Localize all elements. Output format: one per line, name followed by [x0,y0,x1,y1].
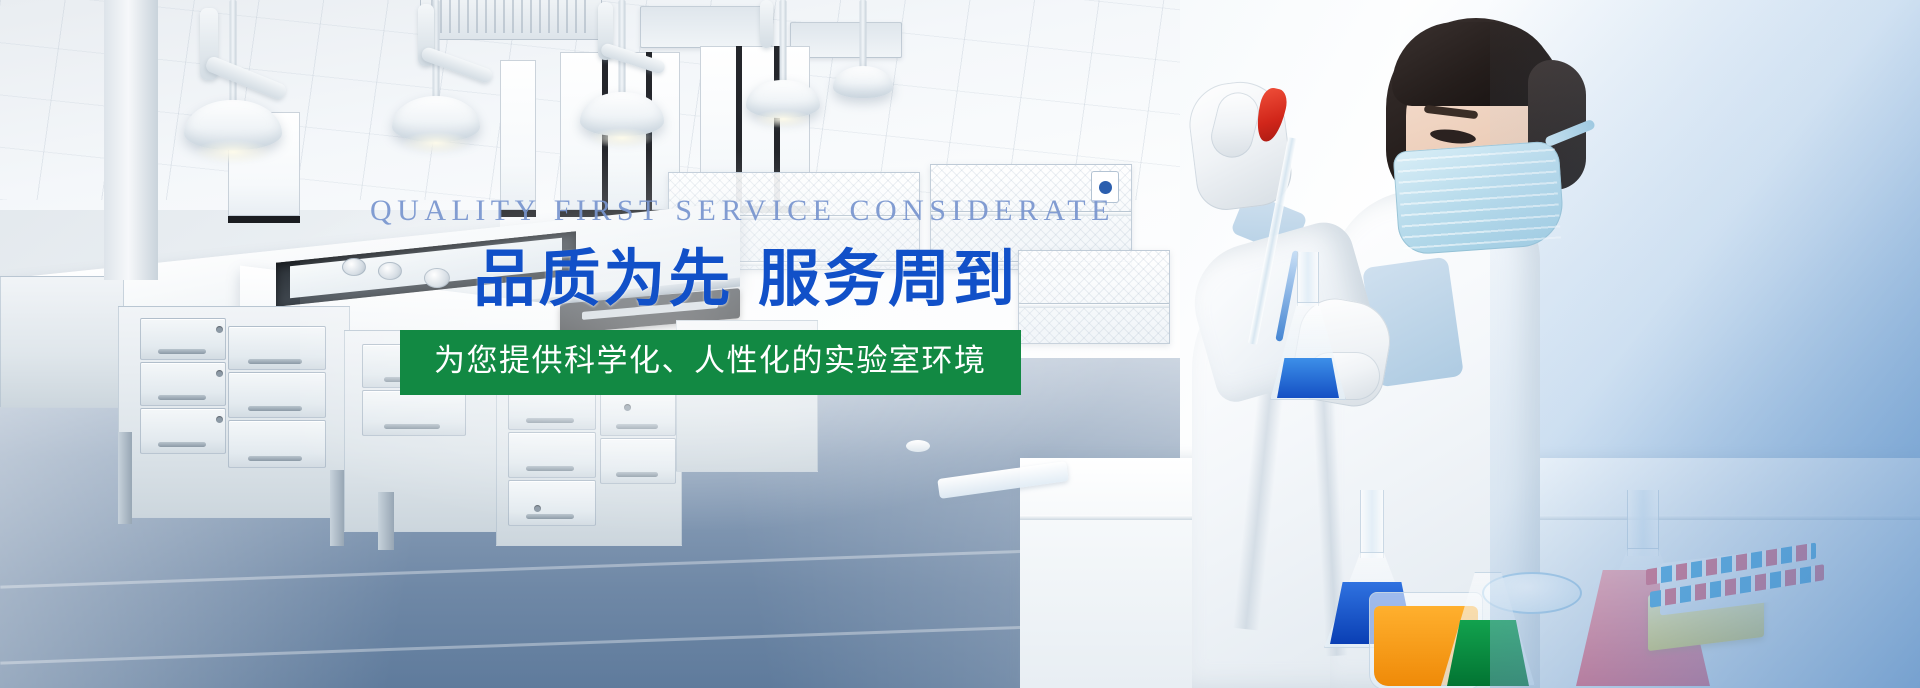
bench-cabinet [0,276,124,408]
small-glass-piece [906,440,930,452]
drawer-handle [248,406,302,411]
drawer-handle [158,395,206,400]
banner-subtitle: 为您提供科学化、人性化的实验室环境 [434,343,987,379]
drawer [600,392,676,436]
banner-text-block: QUALITY FIRST SERVICE CONSIDERATE 品质为先 服… [364,196,1024,395]
drawer [508,480,596,526]
drawer-handle [248,359,302,364]
english-tagline: QUALITY FIRST SERVICE CONSIDERATE [370,196,1024,226]
drawer-handle [616,424,658,429]
service-knob [342,258,366,276]
exhaust-arm [760,0,773,48]
drawer [600,438,676,484]
drawer-handle [248,456,302,461]
drawer-handle [616,472,658,477]
drawer [140,408,226,454]
reagent-shelf [1018,250,1170,344]
drawer [508,432,596,478]
held-flask [1268,252,1348,402]
bench-leg [378,492,394,550]
pendant-lamp [740,0,826,124]
subtitle-green-bar: 为您提供科学化、人性化的实验室环境 [400,330,1021,395]
drawer-handle [384,424,440,429]
drawer-handle [526,418,574,423]
drawer [362,390,466,436]
bench-leg [118,432,132,524]
bench-leg [330,470,344,546]
banner-headline: 品质为先 服务周到 [364,248,1018,310]
hero-banner: QUALITY FIRST SERVICE CONSIDERATE 品质为先 服… [0,0,1920,688]
drawer-handle [526,514,574,519]
drawer-handle [158,442,206,447]
drawer-lock [216,416,223,423]
structural-column [104,0,158,280]
pendant-lamp [828,0,898,106]
drawer-handle [158,349,206,354]
drawer-handle [526,466,574,471]
drawer [228,372,326,418]
drawer-lock [534,505,541,512]
drawer-lock [216,326,223,333]
drawer-lock [216,370,223,377]
drawer-lock [624,404,631,411]
blue-gradient-overlay [1490,0,1920,688]
